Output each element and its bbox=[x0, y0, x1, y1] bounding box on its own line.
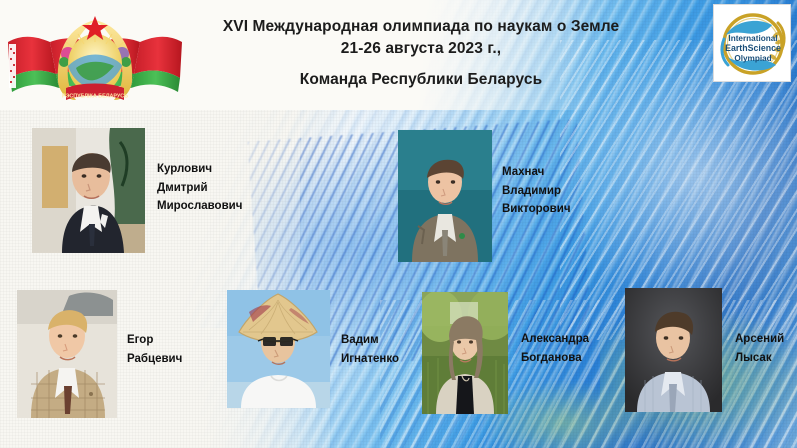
photo-kurlovich bbox=[32, 128, 145, 253]
name-ignatenko: Вадим Игнатенко bbox=[341, 331, 399, 368]
name-line: Владимир bbox=[502, 182, 571, 201]
name-line: Егор bbox=[127, 331, 182, 350]
presentation-slide: РЭСПУБЛІКА БЕЛАРУСЬ XVI Международная ол… bbox=[0, 0, 797, 448]
name-line: Рабцевич bbox=[127, 350, 182, 369]
photo-ignatenko bbox=[227, 290, 330, 408]
name-line: Мирославович bbox=[157, 197, 242, 216]
name-kurlovich: Курлович Дмитрий Мирославович bbox=[157, 160, 242, 216]
name-lysak: Арсений Лысак bbox=[735, 330, 784, 367]
ieso-logo-line-2: EarthScience bbox=[725, 43, 781, 53]
belarus-coat-of-arms-icon: РЭСПУБЛІКА БЕЛАРУСЬ bbox=[6, 8, 184, 106]
ieso-logo-line-1: International bbox=[728, 34, 777, 43]
name-bogdanova: Александра Богданова bbox=[521, 330, 589, 367]
name-line: Игнатенко bbox=[341, 350, 399, 369]
photo-lysak bbox=[625, 288, 722, 412]
ieso-logo-icon: International EarthScience Olympiad bbox=[713, 4, 791, 82]
name-line: Викторович bbox=[502, 200, 571, 219]
photo-bogdanova bbox=[422, 292, 508, 414]
name-line: Вадим bbox=[341, 331, 399, 350]
title-line-3: Команда Республики Беларусь bbox=[176, 69, 666, 91]
slide-title-block: XVI Международная олимпиада по наукам о … bbox=[176, 16, 666, 91]
name-line: Богданова bbox=[521, 349, 589, 368]
ieso-logo-line-3: Olympiad bbox=[734, 54, 771, 63]
name-line: Махнач bbox=[502, 163, 571, 182]
photo-rabtsevich bbox=[17, 290, 117, 418]
name-line: Дмитрий bbox=[157, 179, 242, 198]
title-line-2: 21-26 августа 2023 г., bbox=[176, 38, 666, 60]
slide-header: РЭСПУБЛІКА БЕЛАРУСЬ XVI Международная ол… bbox=[0, 0, 797, 110]
title-line-1: XVI Международная олимпиада по наукам о … bbox=[176, 16, 666, 38]
name-line: Курлович bbox=[157, 160, 242, 179]
name-line: Александра bbox=[521, 330, 589, 349]
name-line: Лысак bbox=[735, 349, 784, 368]
name-line: Арсений bbox=[735, 330, 784, 349]
name-makhnach: Махнач Владимир Викторович bbox=[502, 163, 571, 219]
photo-makhnach bbox=[398, 130, 492, 262]
name-rabtsevich: Егор Рабцевич bbox=[127, 331, 182, 368]
emblem-inscription: РЭСПУБЛІКА БЕЛАРУСЬ bbox=[62, 94, 128, 100]
